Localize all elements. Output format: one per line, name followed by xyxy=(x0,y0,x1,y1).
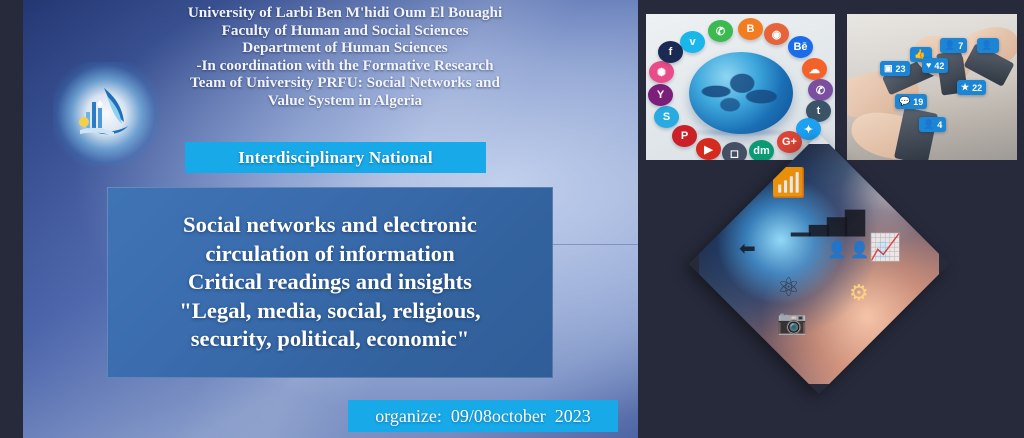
bar-chart-icon: ▁▃▅▇ xyxy=(791,206,863,237)
header-line-3: Department of Human Sciences xyxy=(150,39,540,57)
event-date-band: organize: 09/08october 2023 xyxy=(348,400,618,432)
header-line-4: -In coordination with the Formative Rese… xyxy=(150,57,540,75)
blogger-icon: B xyxy=(738,18,763,40)
badge-star: ★22 xyxy=(957,80,986,95)
badge-comment: 💬19 xyxy=(895,94,927,109)
badge-heart: ♥42 xyxy=(922,58,948,73)
yahoo-icon: Y xyxy=(648,84,673,106)
title-line-4: "Legal, media, social, religious, xyxy=(179,297,480,326)
university-logo xyxy=(53,62,159,166)
viber-icon: ✆ xyxy=(808,79,833,101)
dailymotion-icon: dm xyxy=(749,140,774,160)
header-line-5: Team of University PRFU: Social Networks… xyxy=(150,74,540,92)
badge-user-top: 👤7 xyxy=(940,38,967,53)
skype-icon: S xyxy=(654,106,679,128)
camera-icon: 📷 xyxy=(777,308,807,337)
vimeo-icon: v xyxy=(680,31,705,53)
youtube-icon: ▶ xyxy=(696,138,721,160)
badge-glyph: 💬 xyxy=(899,97,910,106)
dribbble-icon: ✺ xyxy=(649,61,674,83)
badge-glyph: ♥ xyxy=(926,61,931,70)
title-line-3: Critical readings and insights xyxy=(188,268,472,297)
instagram-icon: ◻ xyxy=(722,142,747,160)
badge-count: 22 xyxy=(972,83,982,93)
badge-count: 42 xyxy=(934,61,944,71)
firefox-icon: ◉ xyxy=(764,23,789,45)
badge-count: 4 xyxy=(937,120,942,130)
badge-glyph: 👤 xyxy=(944,41,955,50)
globe-icon xyxy=(689,52,793,134)
badge-glyph: ▣ xyxy=(884,64,893,73)
header-line-6: Value System in Algeria xyxy=(150,92,540,110)
arrow-left-icon: ⬅ xyxy=(739,236,756,261)
horizontal-divider xyxy=(553,244,640,245)
left-edge-strip xyxy=(0,0,23,438)
hands-phones-photo: ▣23👍♥42👤7👤★22💬19👤4 xyxy=(847,14,1017,160)
badge-count: 23 xyxy=(896,64,906,74)
conference-title-box: Social networks and electronic circulati… xyxy=(107,187,553,378)
badge-photo: ▣23 xyxy=(880,61,910,76)
growth-arrow-icon: 📈 xyxy=(869,232,901,263)
event-type-label: Interdisciplinary National xyxy=(238,148,433,168)
badge-glyph: ★ xyxy=(961,83,969,92)
badge-glyph: 👤 xyxy=(923,120,934,129)
gear-icon: ⚙ xyxy=(849,280,869,306)
behance-icon: Bē xyxy=(788,36,813,58)
googleplus-icon: G+ xyxy=(777,131,802,153)
header-line-1: University of Larbi Ben M'hidi Oum El Bo… xyxy=(150,4,540,22)
badge-user: 👤4 xyxy=(919,117,946,132)
atom-icon: ⚛ xyxy=(777,272,800,303)
pinterest-icon: P xyxy=(672,125,697,147)
event-type-banner: Interdisciplinary National xyxy=(185,142,486,173)
globe-social-photo: v✆B◉Bē☁✆t✦G+dm◻▶PSY✺f xyxy=(646,14,835,160)
badge-count: 7 xyxy=(958,41,963,51)
badge-count: 19 xyxy=(913,97,923,107)
title-line-1: Social networks and electronic xyxy=(183,211,477,240)
whatsapp-icon: ✆ xyxy=(708,20,733,42)
facebook-icon: f xyxy=(658,41,683,63)
header-line-2: Faculty of Human and Social Sciences xyxy=(150,22,540,40)
event-date-label: organize: 09/08october 2023 xyxy=(375,406,591,427)
presentation-slide: University of Larbi Ben M'hidi Oum El Bo… xyxy=(0,0,1024,438)
badge-glyph: 👤 xyxy=(981,41,992,50)
title-line-2: circulation of information xyxy=(205,240,454,269)
title-line-5: security, political, economic" xyxy=(191,325,470,354)
cloud-icon: ☁ xyxy=(802,58,827,80)
badge-user-right: 👤 xyxy=(977,38,999,53)
institution-header: University of Larbi Ben M'hidi Oum El Bo… xyxy=(150,4,540,110)
